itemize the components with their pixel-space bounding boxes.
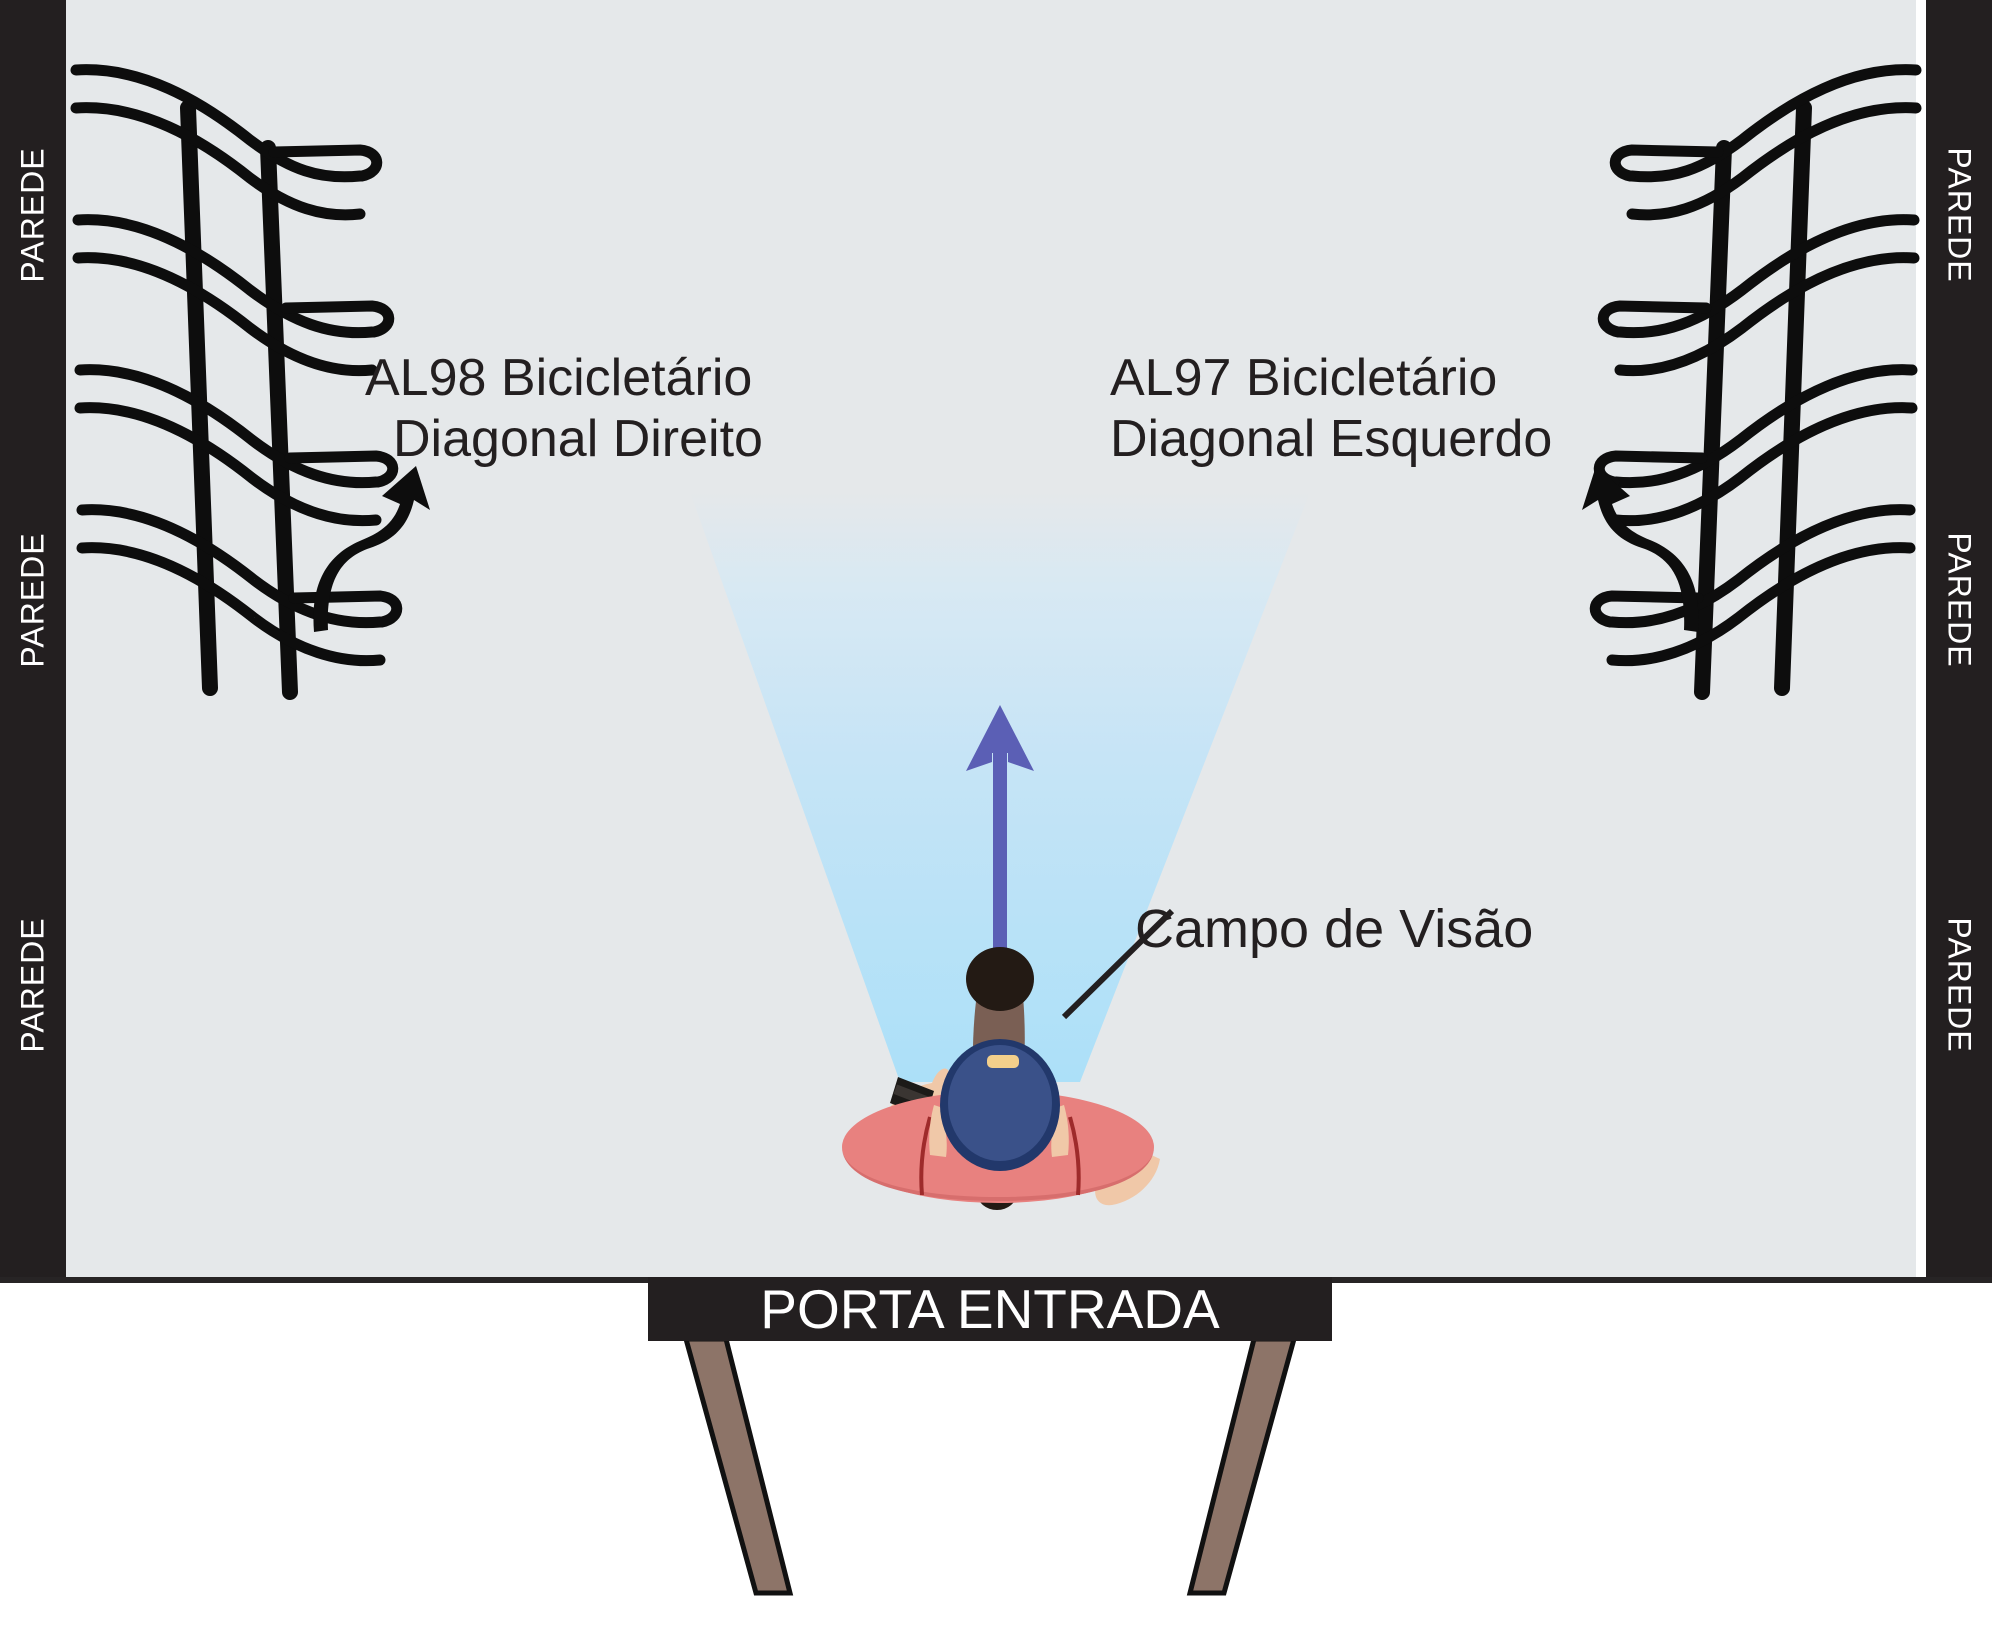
wall-right-label-3: PAREDE: [1941, 917, 1978, 1052]
curved-arrow-icon-right: [1520, 462, 1700, 632]
callout-rack-right: AL97 Bicicletário Diagonal Esquerdo: [1110, 348, 1552, 471]
person-top-view-icon: [822, 875, 1172, 1227]
wall-left-label-3: PAREDE: [15, 917, 52, 1052]
callout-field-of-view: Campo de Visão: [1135, 898, 1533, 962]
wall-left: PAREDE PAREDE PAREDE: [0, 0, 66, 1277]
wall-left-label-1: PAREDE: [15, 147, 52, 282]
door-sign-label: PORTA ENTRADA: [760, 1282, 1219, 1337]
callout-rack-left: AL98 Bicicletário Diagonal Direito: [365, 348, 763, 471]
room-plan: PAREDE PAREDE PAREDE PAREDE PAREDE PARED…: [0, 0, 1992, 1283]
callout-rack-left-line1: AL98 Bicicletário: [365, 349, 752, 407]
wall-right: PAREDE PAREDE PAREDE: [1926, 0, 1992, 1277]
callout-rack-right-line1: AL97 Bicicletário: [1110, 349, 1497, 407]
entrance-door-sign: PORTA ENTRADA: [640, 1277, 1340, 1643]
wall-right-label-1: PAREDE: [1941, 147, 1978, 282]
wall-right-label-2: PAREDE: [1941, 532, 1978, 667]
diagram-canvas: PAREDE PAREDE PAREDE PAREDE PAREDE PARED…: [0, 0, 1992, 1643]
wall-left-label-2: PAREDE: [15, 532, 52, 667]
callout-rack-right-line2: Diagonal Esquerdo: [1110, 409, 1552, 470]
door-sign-bar: PORTA ENTRADA: [648, 1277, 1332, 1341]
curved-arrow-icon-left: [312, 462, 492, 632]
